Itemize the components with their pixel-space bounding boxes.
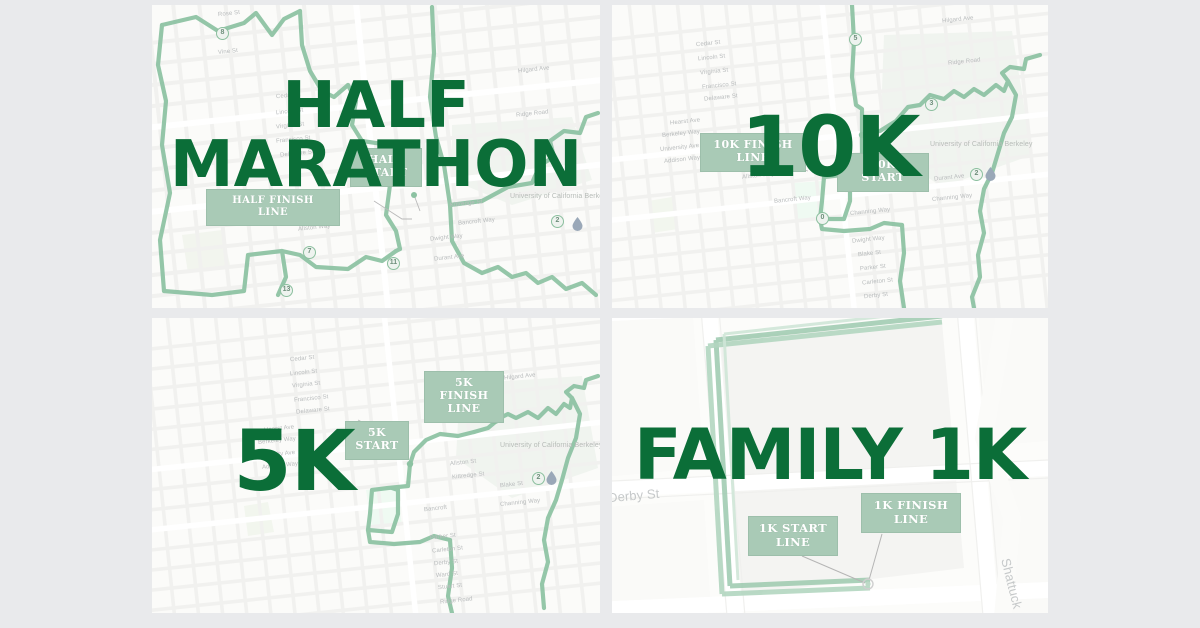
map-5k: Cedar St Lincoln St Virginia St Francisc… (152, 318, 600, 613)
mile-marker: 13 (280, 284, 293, 297)
mile-marker: 7 (303, 246, 316, 259)
callout-10k-finish: 10K FINISH LINE (700, 133, 806, 172)
map-svg-5k (152, 318, 600, 613)
callout-1k-finish: 1K FINISH LINE (861, 493, 961, 533)
callout-half-finish: HALF FINISH LINE (206, 189, 340, 226)
callout-1k-start: 1K START LINE (748, 516, 838, 556)
area-label: University of California Berkeley (930, 141, 990, 148)
map-svg-1k (612, 318, 1048, 613)
panel-5k[interactable]: Cedar St Lincoln St Virginia St Francisc… (152, 318, 600, 613)
callout-10k-start: 10K START (837, 153, 929, 192)
map-10k: Cedar St Lincoln St Virginia St Francisc… (612, 5, 1048, 308)
callout-5k-start: 5K START (345, 421, 409, 460)
aid-station-drop-icon (985, 167, 996, 181)
mile-marker: 11 (387, 257, 400, 270)
race-map-grid: Rose St Vine St Cedar St Lincoln St Virg… (0, 0, 1200, 628)
mile-marker: 5 (849, 33, 862, 46)
mile-marker: 8 (216, 27, 229, 40)
mile-marker: 2 (551, 215, 564, 228)
panel-half-marathon[interactable]: Rose St Vine St Cedar St Lincoln St Virg… (152, 5, 600, 308)
area-label: University of California Berkeley (510, 193, 570, 200)
mile-marker: 2 (532, 472, 545, 485)
aid-station-drop-icon (572, 217, 583, 231)
panel-family-1k[interactable]: Derby St Shattuck 1K START LINE 1K FINIS… (612, 318, 1048, 613)
mile-marker: 2 (970, 168, 983, 181)
callout-half-start: HALF START (350, 148, 422, 187)
callout-5k-finish: 5K FINISH LINE (424, 371, 504, 423)
map-family-1k: Derby St Shattuck (612, 318, 1048, 613)
area-label: University of California Berkeley (500, 442, 560, 449)
panel-10k[interactable]: Cedar St Lincoln St Virginia St Francisc… (612, 5, 1048, 308)
mile-marker: 0 (816, 212, 829, 225)
mile-marker: 3 (925, 98, 938, 111)
aid-station-drop-icon (546, 471, 557, 485)
